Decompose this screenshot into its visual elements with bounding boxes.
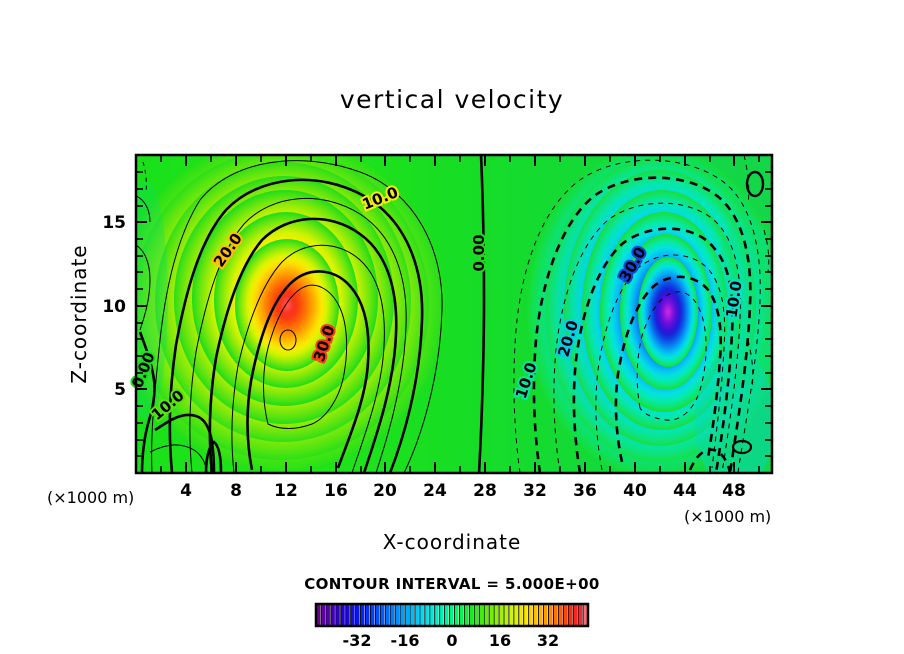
plot-area: 10.0 10.0 20.0 20.0 30.0 30.0 0.00 0.00 … — [47, 137, 783, 554]
colorbar-band — [450, 604, 454, 626]
colorbar-band — [459, 604, 463, 626]
colorbar-band — [385, 604, 389, 626]
colorbar-tick-labels: -32 -16 0 16 32 — [343, 631, 560, 650]
colorbar-band — [351, 604, 355, 626]
colorbar-band — [469, 604, 473, 626]
x-tick-label: 16 — [324, 481, 348, 501]
colorbar-band — [405, 604, 409, 626]
colorbar-band — [400, 604, 404, 626]
x-tick-label: 24 — [423, 481, 447, 501]
x-tick-label: 28 — [473, 481, 497, 501]
colorbar: CONTOUR INTERVAL = 5.000E+00 -32 -16 0 1… — [304, 575, 600, 650]
colorbar-tick-label: 32 — [537, 631, 559, 650]
colorbar-band — [331, 604, 335, 626]
colorbar-band — [375, 604, 379, 626]
colorbar-band — [420, 604, 424, 626]
x-tick-label: 4 — [180, 481, 192, 501]
colorbar-band — [395, 604, 399, 626]
colorbar-band — [435, 604, 439, 626]
x-tick-label: 20 — [373, 481, 397, 501]
colorbar-band — [489, 604, 493, 626]
colorbar-band — [440, 604, 444, 626]
colorbar-title: CONTOUR INTERVAL = 5.000E+00 — [304, 575, 600, 593]
colorbar-band — [370, 604, 374, 626]
colorbar-band — [573, 604, 577, 626]
colorbar-band — [514, 604, 518, 626]
y-tick-label: 5 — [114, 380, 126, 400]
colorbar-tick-label: 16 — [489, 631, 511, 650]
colorbar-band — [454, 604, 458, 626]
colorbar-band — [539, 604, 543, 626]
colorbar-band — [415, 604, 419, 626]
colorbar-band — [558, 604, 562, 626]
colorbar-band — [548, 604, 552, 626]
colorbar-band — [321, 604, 325, 626]
colorbar-band — [361, 604, 365, 626]
y-tick-label: 15 — [102, 213, 126, 233]
colorbar-band — [499, 604, 503, 626]
x-tick-label: 44 — [673, 481, 697, 501]
colorbar-band — [336, 604, 340, 626]
colorbar-band — [563, 604, 567, 626]
colorbar-band — [356, 604, 360, 626]
colorbar-tick-label: -32 — [343, 631, 372, 650]
colorbar-band — [583, 604, 587, 626]
colorbar-band — [410, 604, 414, 626]
colorbar-band — [568, 604, 572, 626]
contour-label-fg: 0.00 — [470, 234, 488, 271]
colorbar-bands — [316, 604, 588, 626]
colorbar-band — [494, 604, 498, 626]
colorbar-band — [365, 604, 369, 626]
figure-canvas: vertical velocity — [0, 0, 904, 654]
colorbar-band — [341, 604, 345, 626]
x-tick-label: 32 — [523, 481, 547, 501]
colorbar-band — [524, 604, 528, 626]
x-tick-label: 12 — [274, 481, 298, 501]
colorbar-band — [484, 604, 488, 626]
chart-title: vertical velocity — [340, 85, 564, 114]
colorbar-band — [474, 604, 478, 626]
y-tick-label: 10 — [102, 297, 126, 317]
colorbar-band — [425, 604, 429, 626]
x-tick-label: 8 — [230, 481, 242, 501]
colorbar-band — [529, 604, 533, 626]
colorbar-band — [534, 604, 538, 626]
colorbar-band — [346, 604, 350, 626]
y-axis-label: Z-coordinate — [67, 244, 91, 383]
x-tick-label: 40 — [623, 481, 647, 501]
colorbar-tick-label: 0 — [446, 631, 457, 650]
x-tick-label: 48 — [722, 481, 746, 501]
colorbar-band — [504, 604, 508, 626]
colorbar-band — [430, 604, 434, 626]
y-axis-unit: (×1000 m) — [47, 488, 134, 507]
y-tick-labels: 5 10 15 — [102, 213, 126, 400]
colorbar-band — [445, 604, 449, 626]
colorbar-band — [390, 604, 394, 626]
colorbar-band — [509, 604, 513, 626]
colorbar-band — [479, 604, 483, 626]
x-tick-labels: 4 8 12 16 20 24 28 32 36 40 44 48 — [180, 481, 746, 501]
x-tick-label: 36 — [573, 481, 597, 501]
colorbar-band — [464, 604, 468, 626]
colorbar-band — [326, 604, 330, 626]
colorbar-band — [519, 604, 523, 626]
x-axis-unit: (×1000 m) — [684, 507, 771, 526]
colorbar-tick-label: -16 — [391, 631, 420, 650]
colorbar-band — [380, 604, 384, 626]
colorbar-band — [543, 604, 547, 626]
x-axis-label: X-coordinate — [383, 530, 522, 554]
colorbar-band — [553, 604, 557, 626]
colorbar-band — [578, 604, 582, 626]
